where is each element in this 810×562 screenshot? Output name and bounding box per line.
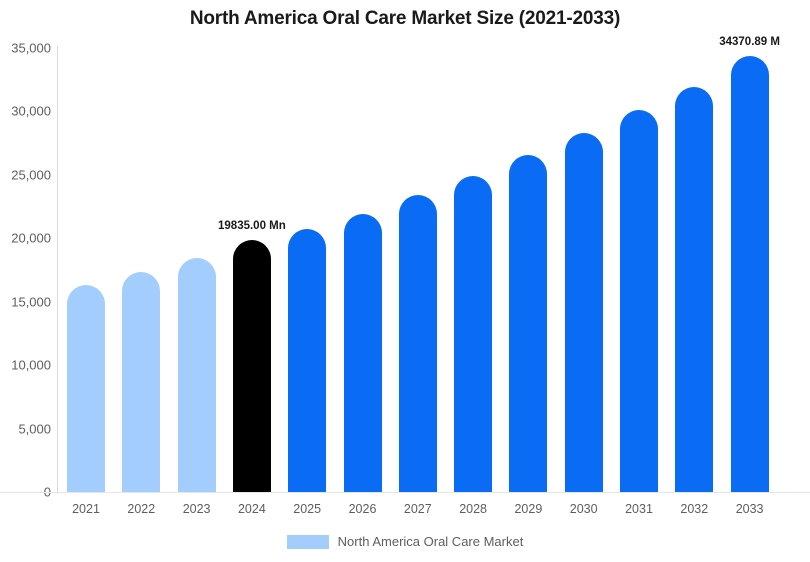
y-tick-label: 35,000 [3,41,51,56]
bar-2022[interactable] [122,272,160,492]
y-tick-label: 25,000 [3,167,51,182]
y-tick-label: 10,000 [3,358,51,373]
bar-fill-2024 [233,240,271,492]
bar-2032[interactable] [675,87,713,492]
x-tick-label-2030: 2030 [570,502,598,516]
bar-fill-2031 [620,110,658,492]
chart-title: North America Oral Care Market Size (202… [0,8,810,30]
bar-fill-2025 [288,229,326,492]
x-tick-label-2023: 2023 [183,502,211,516]
bar-2026[interactable] [344,214,382,492]
x-tick-label-2029: 2029 [514,502,542,516]
bar-2023[interactable] [178,258,216,492]
y-axis-tick-labels: 05,00010,00015,00020,00025,00030,00035,0… [0,0,51,562]
y-tick-label: 5,000 [3,421,51,436]
x-tick-label-2024: 2024 [238,502,266,516]
bar-2031[interactable] [620,110,658,492]
bar-fill-2028 [454,176,492,493]
bar-fill-2022 [122,272,160,492]
bar-fill-2033 [731,56,769,492]
bar-2024[interactable] [233,240,271,492]
bar-fill-2029 [509,155,547,492]
x-tick-label-2027: 2027 [404,502,432,516]
bar-2021[interactable] [67,285,105,492]
bar-fill-2027 [399,195,437,492]
x-tick-label-2025: 2025 [293,502,321,516]
x-tick-label-2022: 2022 [127,502,155,516]
x-axis-line [0,492,810,493]
legend-swatch-north-america-oral-care-market [287,535,329,549]
bar-2033[interactable] [731,56,769,492]
bar-fill-2026 [344,214,382,492]
bar-fill-2021 [67,285,105,492]
x-tick-label-2028: 2028 [459,502,487,516]
bar-fill-2023 [178,258,216,492]
bar-value-label-2024: 19835.00 Mn [218,220,286,232]
x-tick-label-2033: 2033 [736,502,764,516]
bar-value-label-2033: 34370.89 M [719,36,780,48]
y-tick-label: 15,000 [3,294,51,309]
bar-2030[interactable] [565,133,603,492]
bar-2027[interactable] [399,195,437,492]
chart-legend: North America Oral Care Market [0,534,810,549]
bar-fill-2030 [565,133,603,492]
bar-2025[interactable] [288,229,326,492]
y-tick-label: 20,000 [3,231,51,246]
x-tick-label-2026: 2026 [349,502,377,516]
bar-chart: North America Oral Care Market Size (202… [0,0,810,562]
legend-label-north-america-oral-care-market: North America Oral Care Market [338,534,524,549]
x-tick-label-2021: 2021 [72,502,100,516]
x-tick-label-2031: 2031 [625,502,653,516]
bar-fill-2032 [675,87,713,492]
bar-2028[interactable] [454,176,492,493]
x-tick-label-2032: 2032 [680,502,708,516]
y-tick-label: 30,000 [3,104,51,119]
bar-2029[interactable] [509,155,547,492]
